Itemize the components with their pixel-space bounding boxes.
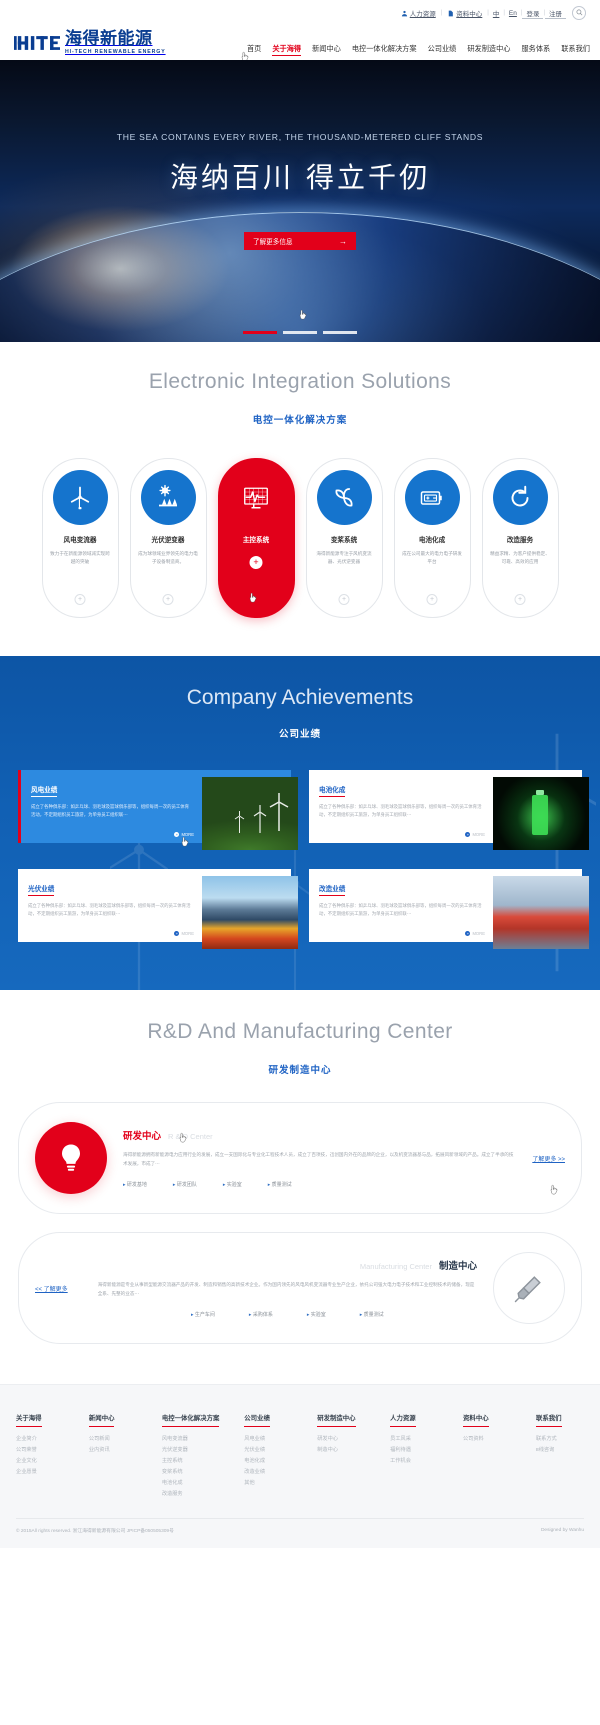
solution-name: 主控系统: [243, 534, 269, 544]
nav-item-service[interactable]: 服务体系: [521, 44, 550, 56]
rd-tag[interactable]: 生产车间: [191, 1311, 215, 1318]
rd-panel-title-cn: 研发中心: [123, 1128, 161, 1142]
footer-link[interactable]: в线咨询: [536, 1445, 584, 1456]
resource-center-label: 资料中心: [456, 8, 482, 18]
more-label: MORE: [181, 931, 194, 936]
footer-link[interactable]: 企业文化: [16, 1456, 64, 1467]
brand-name-en: HI-TECH RENEWABLE ENERGY: [65, 50, 166, 55]
lang-en-link[interactable]: En: [505, 10, 521, 17]
copyright-text: © 2015All rights reserved. 浙江海得新能源有限公司 J…: [16, 1527, 174, 1534]
footer-column-title: 人力资源: [390, 1413, 416, 1427]
rd-panel-body: 海得新能源是专业从事新型能源交流器产品的开发、制造和销售的高新技术企业。作为国内…: [98, 1281, 477, 1298]
rd-tag[interactable]: 采购体系: [249, 1311, 273, 1318]
nav-item-about[interactable]: 关于海得: [272, 44, 301, 56]
footer-column-title: 公司业绩: [244, 1413, 270, 1427]
footer-column-title: 电控一体化解决方案: [162, 1413, 220, 1427]
achievement-card-wind[interactable]: 风电业绩 成立了各种俱乐部：如乒乓球、羽毛球及篮球俱乐部等，组织每周一次的员工体…: [18, 770, 291, 843]
hr-link[interactable]: 人力资源: [396, 8, 441, 18]
mouse-cursor-icon: [550, 1183, 559, 1195]
solutions-title-en: Electronic Integration Solutions: [0, 370, 600, 394]
workers-photo: [493, 876, 589, 949]
footer-column-hr: 人力资源 员工风采 福利待遇 工作机会: [390, 1407, 438, 1500]
lang-cn-link[interactable]: 中: [489, 8, 504, 18]
rd-panel-manufacturing-center[interactable]: << 了解更多 Manufacturing Center 制造中心 海得新能源是…: [18, 1232, 582, 1344]
rd-panel-body: 海得新能源拥有新能源电力应用行业的发展，成立一支国际化与专业化工程技术人员，成立…: [123, 1151, 516, 1168]
rd-panel-title-en: Manufacturing Center: [360, 1262, 432, 1271]
achievement-body: 成立了各种俱乐部：如乒乓球、羽毛球及篮球俱乐部等，组织每周一次的员工体育活动，不…: [28, 902, 193, 918]
footer-column-title: 资料中心: [463, 1413, 489, 1427]
footer-link[interactable]: 企业简介: [16, 1434, 64, 1445]
fan-icon: [317, 470, 372, 525]
footer-column-title: 联系我们: [536, 1413, 562, 1427]
rd-panel-research-center[interactable]: 研发中心 R & D Center 海得新能源拥有新能源电力应用行业的发展，成立…: [18, 1102, 582, 1214]
top-utility-bar: 人力资源 | 资料中心 | 中 | En | 登录 | 注册: [0, 0, 600, 26]
battery-icon: [405, 470, 460, 525]
search-icon: [576, 9, 583, 18]
rd-tag[interactable]: 实验室: [223, 1181, 242, 1188]
footer-column-resources: 资料中心 公司资料: [463, 1407, 511, 1500]
solution-card-solar-inverter[interactable]: 光伏逆变器 成为球领域业界领先的电力电子设备制造商。 +: [130, 458, 207, 618]
nav-item-home[interactable]: 首页: [247, 44, 261, 56]
solution-name: 电池化成: [419, 534, 445, 544]
achievement-card-battery[interactable]: 电池化成 成立了各种俱乐部：如乒乓球、羽毛球及篮球俱乐部等，组织每周一次的员工体…: [309, 770, 582, 843]
wind-farm-photo: [202, 777, 298, 850]
expand-plus-icon[interactable]: +: [75, 594, 86, 605]
plus-circle-icon: +: [465, 931, 470, 936]
more-link[interactable]: + MORE: [465, 931, 485, 936]
solar-panel-icon: [141, 470, 196, 525]
rd-title-cn: 研发制造中心: [0, 1062, 600, 1076]
nav-item-achievements[interactable]: 公司业绩: [428, 44, 457, 56]
footer-link[interactable]: 其他: [244, 1478, 292, 1489]
rd-panel-title-en: R & D Center: [168, 1132, 213, 1141]
footer-link[interactable]: 电池化成: [244, 1456, 292, 1467]
nav-item-news[interactable]: 新闻中心: [312, 44, 341, 56]
rd-panel-tags: 研发基地 研发团队 实验室 质量测试: [123, 1181, 516, 1188]
footer-link[interactable]: 业内资讯: [89, 1445, 137, 1456]
hero-slide-dot-3[interactable]: [323, 331, 357, 334]
footer-link[interactable]: 公司资料: [463, 1434, 511, 1445]
solution-card-retrofit-service[interactable]: 改造服务 精益求精、为客户提供稳定、可靠、高效的应用 +: [482, 458, 559, 618]
user-icon: [401, 10, 408, 17]
battery-photo: [493, 777, 589, 850]
main-navigation: 首页 关于海得 新闻中心 电控一体化解决方案 公司业绩 研发制造中心 服务体系 …: [247, 44, 590, 56]
achievements-section: Company Achievements 公司业绩 风电业绩 成立了各种俱乐部：…: [0, 656, 600, 990]
site-logo[interactable]: 海得新能源 HI-TECH RENEWABLE ENERGY: [14, 31, 166, 55]
footer-column-title: 研发制造中心: [317, 1413, 355, 1427]
more-link[interactable]: + MORE: [174, 832, 194, 837]
site-header: 海得新能源 HI-TECH RENEWABLE ENERGY 首页 关于海得 新…: [0, 26, 600, 60]
hero-banner: THE SEA CONTAINS EVERY RIVER, THE THOUSA…: [0, 60, 600, 342]
solution-card-main-control[interactable]: 主控系统 +: [218, 458, 295, 618]
footer-link[interactable]: 员工风采: [390, 1434, 438, 1445]
rd-title-en: R&D And Manufacturing Center: [0, 1020, 600, 1044]
footer-bottom-bar: © 2015All rights reserved. 浙江海得新能源有限公司 J…: [16, 1518, 584, 1534]
hr-label: 人力资源: [410, 8, 436, 18]
plus-circle-icon: +: [174, 931, 179, 936]
achievement-body: 成立了各种俱乐部：如乒乓球、羽毛球及篮球俱乐部等，组织每周一次的员工体育活动，不…: [319, 902, 484, 918]
brand-name-cn: 海得新能源: [65, 31, 166, 48]
expand-plus-icon[interactable]: +: [515, 594, 526, 605]
resource-center-link[interactable]: 资料中心: [442, 8, 487, 18]
designed-by-text: Designed by Wanhu: [541, 1528, 584, 1533]
solution-name: 风电变流器: [64, 534, 97, 544]
plus-circle-icon: +: [174, 832, 179, 837]
rd-tag[interactable]: 实验室: [307, 1311, 326, 1318]
achievement-card-retrofit[interactable]: 改造业绩 成立了各种俱乐部：如乒乓球、羽毛球及篮球俱乐部等，组织每周一次的员工体…: [309, 869, 582, 942]
footer-link[interactable]: 改造服务: [162, 1489, 220, 1500]
hite-logo-icon: [14, 32, 60, 54]
expand-plus-icon[interactable]: +: [250, 556, 263, 569]
footer-link[interactable]: 公司新闻: [89, 1434, 137, 1445]
footer-link[interactable]: 风电变流器: [162, 1434, 220, 1445]
footer-column-title: 关于海得: [16, 1413, 42, 1427]
achievements-title-cn: 公司业绩: [0, 726, 600, 740]
solution-desc: 致力于在新能源领域减实现跨越的突破: [43, 550, 118, 566]
more-link[interactable]: + MORE: [465, 832, 485, 837]
solution-desc: 成在公司最大的电力电子研发平台: [395, 550, 470, 566]
nav-item-rd-center[interactable]: 研发制造中心: [467, 44, 510, 56]
footer-column-solutions: 电控一体化解决方案 风电变流器 光伏逆变器 主控系统 变桨系统 电池化成 改造服…: [162, 1407, 220, 1500]
arrow-right-icon: →: [339, 237, 347, 246]
rd-tag[interactable]: 质量测试: [268, 1181, 292, 1188]
hero-slide-dot-2[interactable]: [283, 331, 317, 334]
footer-column-rd: 研发制造中心 研发中心 制造中心: [317, 1407, 365, 1500]
expand-plus-icon[interactable]: +: [339, 594, 350, 605]
achievement-name: 光伏业绩: [28, 883, 54, 896]
solution-name: 变桨系统: [331, 534, 357, 544]
footer-link[interactable]: 联系方式: [536, 1434, 584, 1445]
solution-desc: 成为球领域业界领先的电力电子设备制造商。: [131, 550, 206, 566]
rd-panel-title-cn: 制造中心: [439, 1258, 477, 1272]
hero-cta-label: 了解更多信息: [253, 236, 293, 246]
hero-title: 海纳百川 得立千仞: [0, 156, 600, 196]
footer-column-title: 新闻中心: [89, 1413, 115, 1427]
footer-link[interactable]: 制造中心: [317, 1445, 365, 1456]
solution-name: 光伏逆变器: [152, 534, 185, 544]
footer-column-news: 新闻中心 公司新闻 业内资讯: [89, 1407, 137, 1500]
expand-plus-icon[interactable]: +: [163, 594, 174, 605]
nav-item-contact[interactable]: 联系我们: [561, 44, 590, 56]
achievement-cards: 风电业绩 成立了各种俱乐部：如乒乓球、羽毛球及篮球俱乐部等，组织每周一次的员工体…: [0, 740, 600, 942]
solution-desc: 海得新能源专注于风机变流器、光伏逆变器: [307, 550, 382, 566]
solution-card-pitch-system[interactable]: 变桨系统 海得新能源专注于风机变流器、光伏逆变器 +: [306, 458, 383, 618]
rd-panel-tags: 生产车间 采购体系 实验室 质量测试: [98, 1311, 477, 1318]
expand-plus-icon[interactable]: +: [427, 594, 438, 605]
footer-column-contact: 联系我们 联系方式 в线咨询: [536, 1407, 584, 1500]
solution-name: 改造服务: [507, 534, 533, 544]
solutions-title-cn: 电控一体化解决方案: [0, 412, 600, 426]
manufacturing-more-link[interactable]: << 了解更多: [35, 1284, 82, 1293]
refresh-icon: [493, 470, 548, 525]
solution-desc: 精益求精、为客户提供稳定、可靠、高效的应用: [483, 550, 558, 566]
rd-tag[interactable]: 质量测试: [360, 1311, 384, 1318]
rd-section: R&D And Manufacturing Center 研发制造中心 研发中心…: [0, 990, 600, 1384]
hero-slide-dot-1[interactable]: [243, 331, 277, 334]
solution-cards: 风电变流器 致力于在新能源领域减实现跨越的突破 + 光伏逆变器 成为球领域业界领…: [0, 458, 600, 618]
solution-card-wind-converter[interactable]: 风电变流器 致力于在新能源领域减实现跨越的突破 +: [42, 458, 119, 618]
achievement-name: 风电业绩: [31, 784, 57, 797]
footer-link[interactable]: 主控系统: [162, 1456, 220, 1467]
achievement-card-solar[interactable]: 光伏业绩 成立了各种俱乐部：如乒乓球、羽毛球及篮球俱乐部等，组织每周一次的员工体…: [18, 869, 291, 942]
search-button[interactable]: [572, 6, 586, 20]
plus-circle-icon: +: [465, 832, 470, 837]
more-label: MORE: [472, 832, 485, 837]
site-footer: 关于海得 企业简介 公司荣誉 企业文化 企业愿景 新闻中心 公司新闻 业内资讯 …: [0, 1384, 600, 1548]
screwdriver-icon: [493, 1252, 565, 1324]
footer-link[interactable]: 电池化成: [162, 1478, 220, 1489]
rd-tag[interactable]: 研发基地: [123, 1181, 147, 1188]
footer-link[interactable]: 光伏逆变器: [162, 1445, 220, 1456]
hero-cta-button[interactable]: 了解更多信息 →: [244, 232, 356, 250]
achievement-body: 成立了各种俱乐部：如乒乓球、羽毛球及篮球俱乐部等，组织每周一次的员工体育活动，不…: [31, 803, 193, 819]
achievement-name: 改造业绩: [319, 883, 345, 896]
solution-card-battery-formation[interactable]: 电池化成 成在公司最大的电力电子研发平台 +: [394, 458, 471, 618]
footer-link[interactable]: 企业愿景: [16, 1467, 64, 1478]
monitor-ecg-icon: [229, 470, 284, 525]
login-link[interactable]: 登录: [522, 8, 543, 19]
achievements-title-en: Company Achievements: [0, 686, 600, 710]
achievement-body: 成立了各种俱乐部：如乒乓球、羽毛球及篮球俱乐部等，组织每周一次的员工体育活动，不…: [319, 803, 484, 819]
footer-column-achievements: 公司业绩 风电业绩 光伏业绩 电池化成 改造业绩 其他: [244, 1407, 292, 1500]
footer-link[interactable]: 变桨系统: [162, 1467, 220, 1478]
more-label: MORE: [181, 832, 194, 837]
footer-link[interactable]: 工作机会: [390, 1456, 438, 1467]
more-link[interactable]: + MORE: [174, 931, 194, 936]
document-icon: [447, 10, 454, 17]
footer-link[interactable]: 光伏业绩: [244, 1445, 292, 1456]
footer-link[interactable]: 风电业绩: [244, 1434, 292, 1445]
lightbulb-icon: [35, 1122, 107, 1194]
footer-link[interactable]: 改造业绩: [244, 1467, 292, 1478]
achievement-name: 电池化成: [319, 784, 345, 797]
solutions-section: Electronic Integration Solutions 电控一体化解决…: [0, 342, 600, 656]
more-label: MORE: [472, 931, 485, 936]
wind-turbine-icon: [53, 470, 108, 525]
hero-subtitle: THE SEA CONTAINS EVERY RIVER, THE THOUSA…: [0, 132, 600, 142]
footer-columns: 关于海得 企业简介 公司荣誉 企业文化 企业愿景 新闻中心 公司新闻 业内资讯 …: [16, 1407, 584, 1500]
footer-link[interactable]: 公司荣誉: [16, 1445, 64, 1456]
footer-link[interactable]: 研发中心: [317, 1434, 365, 1445]
hero-slider-dots: [0, 331, 600, 334]
footer-column-about: 关于海得 企业简介 公司荣誉 企业文化 企业愿景: [16, 1407, 64, 1500]
solar-farm-photo: [202, 876, 298, 949]
rd-more-link[interactable]: 了解更多 >>: [532, 1154, 565, 1163]
rd-tag[interactable]: 研发团队: [173, 1181, 197, 1188]
nav-item-solutions[interactable]: 电控一体化解决方案: [352, 44, 417, 56]
register-link[interactable]: 注册: [545, 8, 566, 19]
footer-link[interactable]: 福利待遇: [390, 1445, 438, 1456]
mouse-cursor-icon: [249, 591, 258, 603]
